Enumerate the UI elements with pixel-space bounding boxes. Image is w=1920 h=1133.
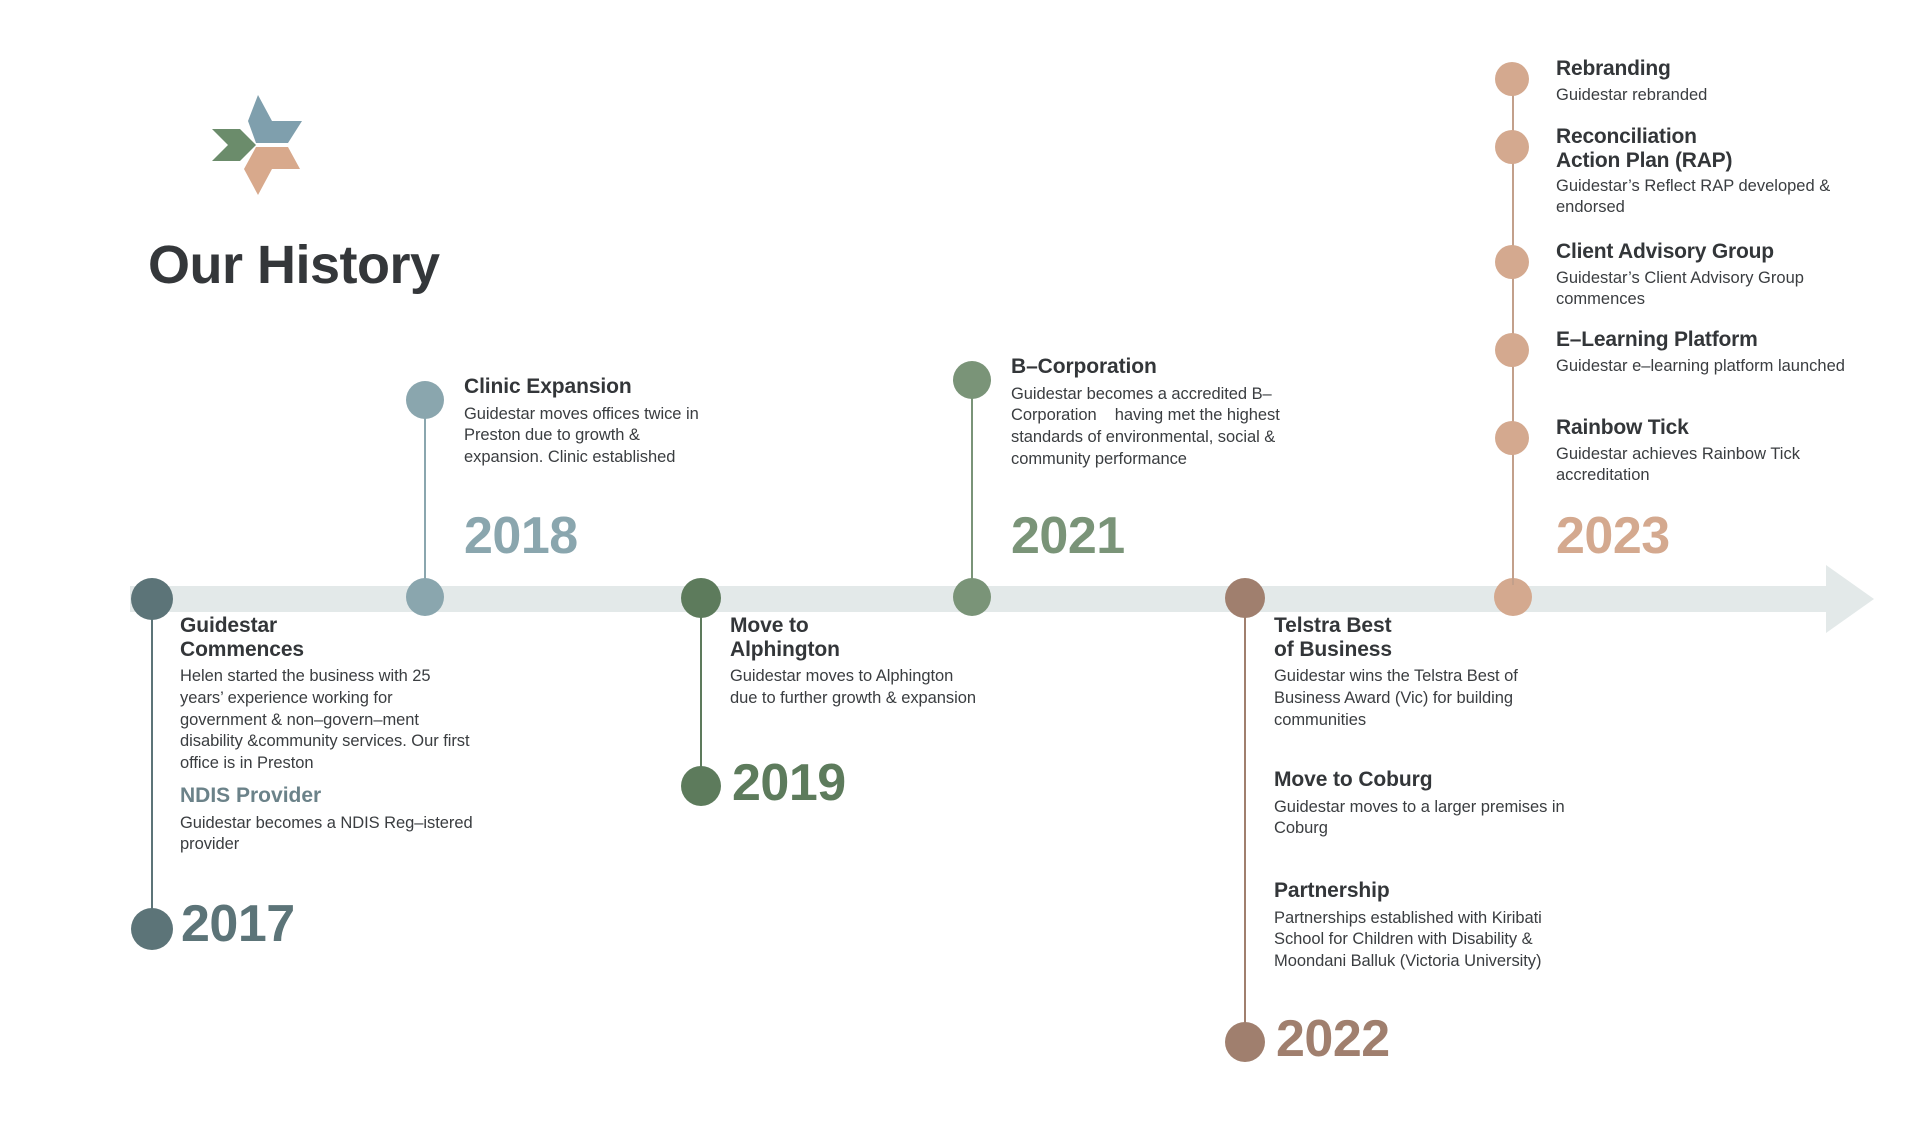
event-subdesc-partnership: Partnerships established with Kiribati S…	[1274, 908, 1574, 973]
event-block-2022: Telstra Best of Business Guidestar wins …	[1274, 614, 1574, 731]
timeline-stem-2021	[971, 380, 973, 585]
event-title-2021: B–Corporation	[1011, 355, 1321, 379]
event-title-2017: Guidestar Commences	[180, 614, 472, 661]
event-block-2019: Move to Alphington Guidestar moves to Al…	[730, 614, 978, 710]
event-desc-2021: Guidestar becomes a accredited B–Corpora…	[1011, 384, 1321, 471]
timeline-subnode-2023-rap[interactable]	[1495, 130, 1529, 164]
event-title-2018: Clinic Expansion	[464, 375, 716, 399]
year-label-2022: 2022	[1276, 1013, 1390, 1065]
event-desc-rebranding: Guidestar rebranded	[1556, 85, 1876, 106]
timeline-topnode-2021[interactable]	[953, 361, 991, 399]
event-subtitle-ndis: NDIS Provider	[180, 784, 480, 808]
event-title-rainbow-tick: Rainbow Tick	[1556, 416, 1886, 440]
event-subdesc-coburg: Guidestar moves to a larger premises in …	[1274, 797, 1574, 841]
event-desc-2017: Helen started the business with 25 years…	[180, 666, 472, 775]
event-block-2017: Guidestar Commences Helen started the bu…	[180, 614, 472, 775]
event-block-2021: B–Corporation Guidestar becomes a accred…	[1011, 355, 1321, 471]
event-desc-2018: Guidestar moves offices twice in Preston…	[464, 404, 716, 469]
guidestar-star-logo	[210, 95, 306, 195]
event-block-2023-rap: Reconciliation Action Plan (RAP) Guidest…	[1556, 125, 1886, 219]
event-subblock-partnership: Partnership Partnerships established wit…	[1274, 879, 1574, 973]
timeline-arrow-head	[1826, 565, 1874, 633]
event-desc-rap: Guidestar’s Reflect RAP developed & endo…	[1556, 176, 1886, 219]
event-desc-client-advisory: Guidestar’s Client Advisory Group commen…	[1556, 268, 1886, 311]
page-title: Our History	[148, 234, 440, 296]
event-title-2019: Move to Alphington	[730, 614, 978, 661]
event-title-2022: Telstra Best of Business	[1274, 614, 1574, 661]
event-title-rap: Reconciliation Action Plan (RAP)	[1556, 125, 1886, 172]
event-block-2018: Clinic Expansion Guidestar moves offices…	[464, 375, 716, 469]
event-subblock-2017-ndis: NDIS Provider Guidestar becomes a NDIS R…	[180, 784, 480, 856]
event-block-2023-elearning: E–Learning Platform Guidestar e–learning…	[1556, 328, 1886, 377]
timeline-stem-2022	[1244, 599, 1246, 1039]
event-block-2023-client-advisory: Client Advisory Group Guidestar’s Client…	[1556, 240, 1886, 310]
year-label-2021: 2021	[1011, 510, 1125, 562]
timeline-endnode-2019[interactable]	[681, 766, 721, 806]
event-subblock-move-to-coburg: Move to Coburg Guidestar moves to a larg…	[1274, 768, 1574, 840]
event-block-2023-rebranding: Rebranding Guidestar rebranded	[1556, 57, 1876, 106]
timeline-subnode-2023-elearning[interactable]	[1495, 333, 1529, 367]
event-title-elearning: E–Learning Platform	[1556, 328, 1886, 352]
event-block-2023-rainbow-tick: Rainbow Tick Guidestar achieves Rainbow …	[1556, 416, 1886, 486]
timeline-endnode-2022[interactable]	[1225, 1022, 1265, 1062]
timeline-stem-2018	[424, 400, 426, 585]
year-label-2017: 2017	[181, 898, 295, 950]
event-subtitle-coburg: Move to Coburg	[1274, 768, 1574, 792]
year-label-2018: 2018	[464, 510, 578, 562]
event-desc-2019: Guidestar moves to Alphington due to fur…	[730, 666, 978, 710]
event-subdesc-ndis: Guidestar becomes a NDIS Reg–istered pro…	[180, 813, 480, 857]
timeline-subnode-2023-client-advisory[interactable]	[1495, 245, 1529, 279]
timeline-endnode-2017[interactable]	[131, 908, 173, 950]
timeline-subnode-2023-rebranding[interactable]	[1495, 62, 1529, 96]
timeline-topnode-2018[interactable]	[406, 381, 444, 419]
timeline-stem-2017	[151, 599, 153, 929]
year-label-2019: 2019	[732, 757, 846, 809]
event-subtitle-partnership: Partnership	[1274, 879, 1574, 903]
event-desc-elearning: Guidestar e–learning platform launched	[1556, 356, 1886, 377]
timeline-infographic: Our History Guidestar Commences Helen st…	[0, 0, 1920, 1133]
year-label-2023: 2023	[1556, 510, 1670, 562]
event-title-client-advisory: Client Advisory Group	[1556, 240, 1886, 264]
timeline-subnode-2023-rainbow-tick[interactable]	[1495, 421, 1529, 455]
event-desc-2022: Guidestar wins the Telstra Best of Busin…	[1274, 666, 1574, 731]
event-title-rebranding: Rebranding	[1556, 57, 1876, 81]
event-desc-rainbow-tick: Guidestar achieves Rainbow Tick accredit…	[1556, 444, 1886, 487]
timeline-stem-2019	[700, 599, 702, 784]
